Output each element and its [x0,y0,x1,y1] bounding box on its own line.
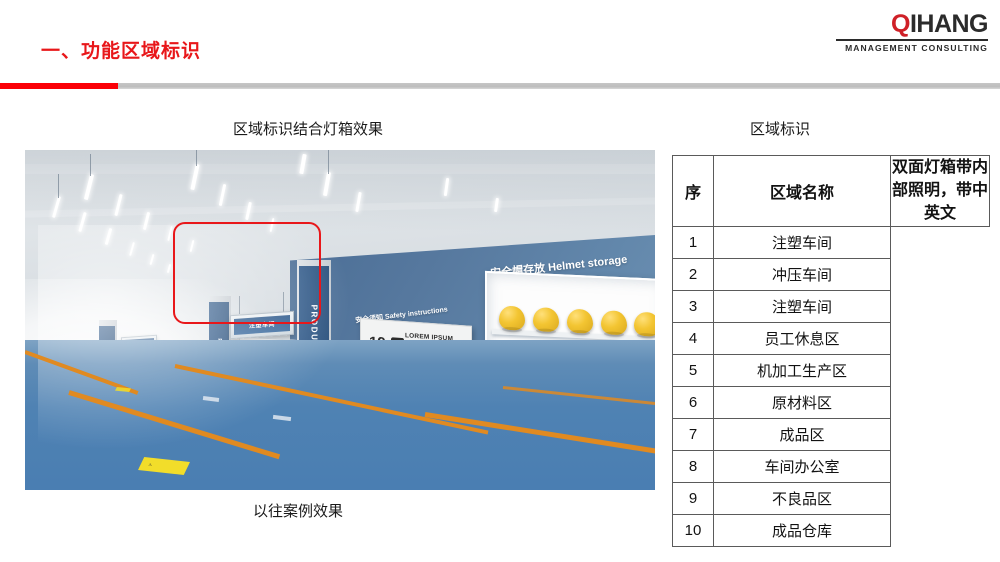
table-row[interactable]: 1 注塑车间 [673,226,990,258]
table-row[interactable]: 6 原材料区 [673,386,990,418]
row-index: 9 [673,482,714,514]
row-area-name: 注塑车间 [714,290,891,322]
row-index: 2 [673,258,714,290]
row-area-name: 员工休息区 [714,322,891,354]
ceiling-shading [25,150,655,232]
row-area-name: 冲压车间 [714,258,891,290]
table-caption: 区域标识 [750,118,810,139]
page-title: 一、功能区域标识 [41,36,201,63]
caution-sign-text: ⚠ [148,462,152,467]
row-area-name: 成品区 [714,418,891,450]
table-row[interactable]: 7 成品区 [673,418,990,450]
photo-caption-top: 区域标识结合灯箱效果 [233,118,383,139]
annotation-highlight-box [173,222,321,324]
title-underline-rule [0,83,1000,89]
rule-grey-segment [118,83,1000,89]
table-header-index: 序 [673,156,714,227]
light-suspension-rod [90,154,91,176]
table-header-name: 区域名称 [714,156,891,227]
row-index: 10 [673,514,714,546]
light-suspension-rod [58,174,59,198]
row-area-name: 注塑车间 [714,226,891,258]
table-row[interactable]: 3 注塑车间 [673,290,990,322]
table-header-row: 序 区域名称 双面灯箱带内部照明，带中英文 [673,156,990,227]
factory-rendering-image: 安全帽存放 Helmet storage 安全须知 Safety instruc… [25,150,655,490]
light-suspension-rod [196,150,197,166]
row-area-name: 不良品区 [714,482,891,514]
brand-logo: QIHANG MANAGEMENT CONSULTING [836,12,988,53]
row-index: 5 [673,354,714,386]
safety-helmet [499,306,525,331]
rule-red-segment [0,83,118,89]
row-index: 1 [673,226,714,258]
row-index: 8 [673,450,714,482]
row-area-name: 机加工生产区 [714,354,891,386]
table-note-cell: 双面灯箱带内部照明，带中英文 [891,156,990,227]
safety-helmet [601,310,627,335]
table-row[interactable]: 2 冲压车间 [673,258,990,290]
area-identification-table: 序 区域名称 双面灯箱带内部照明，带中英文 1 注塑车间 2 冲压车间 3 注塑… [672,155,990,547]
table-row[interactable]: 8 车间办公室 [673,450,990,482]
row-area-name: 车间办公室 [714,450,891,482]
table-row[interactable]: 10 成品仓库 [673,514,990,546]
logo-first-letter: Q [891,10,910,38]
logo-divider [836,39,988,41]
photo-caption-bottom: 以往案例效果 [253,500,343,521]
safety-helmet [567,309,593,334]
row-area-name: 原材料区 [714,386,891,418]
logo-rest-letters: IHANG [910,10,988,38]
light-suspension-rod [328,150,329,174]
safety-helmet [533,307,559,332]
row-index: 3 [673,290,714,322]
table-row[interactable]: 4 员工休息区 [673,322,990,354]
row-area-name: 成品仓库 [714,514,891,546]
table-row[interactable]: 5 机加工生产区 [673,354,990,386]
table-row[interactable]: 9 不良品区 [673,482,990,514]
row-index: 7 [673,418,714,450]
logo-wordmark: QIHANG [836,12,988,37]
safety-helmet [634,312,655,337]
row-index: 6 [673,386,714,418]
row-index: 4 [673,322,714,354]
logo-subtitle: MANAGEMENT CONSULTING [836,43,988,53]
